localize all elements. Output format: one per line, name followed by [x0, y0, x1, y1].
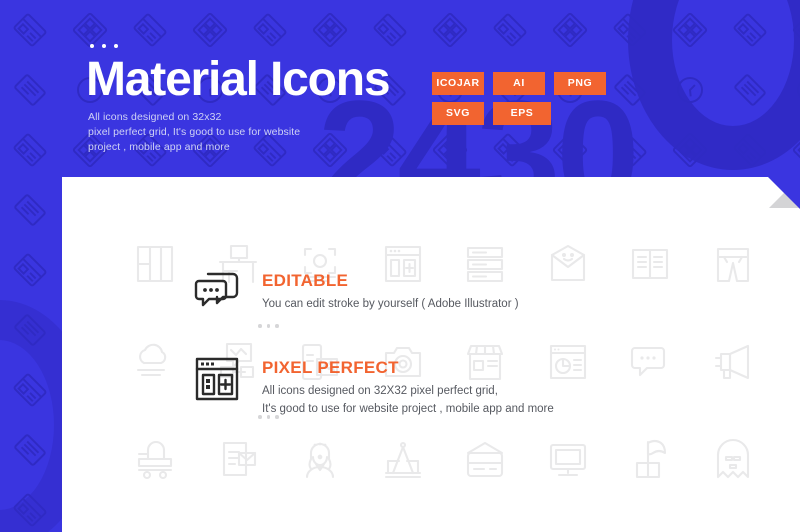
feature-editable-description: You can edit stroke by yourself ( Adobe … — [262, 296, 519, 314]
feature-pixel-perfect-text: PIXEL PERFECT All icons designed on 32X3… — [262, 352, 554, 419]
shorts-icon — [710, 241, 756, 287]
layout-columns-icon — [132, 241, 178, 287]
badge-eps[interactable]: EPS — [493, 102, 551, 125]
feature-pixel-perfect-title: PIXEL PERFECT — [262, 358, 554, 378]
format-badge-list: ICOJAR AI PNG SVG EPS — [432, 72, 612, 125]
cloud-wind-icon — [132, 339, 178, 385]
poster-canvas: 2430 Material Icons All icons designed o… — [0, 0, 800, 532]
badge-ai[interactable]: AI — [493, 72, 545, 95]
feature-editable-title: EDITABLE — [262, 271, 519, 291]
trolley-cart-icon — [132, 437, 178, 483]
open-book-icon — [627, 241, 673, 287]
monitor-icon — [545, 437, 591, 483]
document-mail-icon — [215, 437, 261, 483]
card-fold-corner — [768, 177, 800, 209]
badge-png[interactable]: PNG — [554, 72, 606, 95]
megaphone-icon — [710, 339, 756, 385]
page-subtitle: All icons designed on 32x32 pixel perfec… — [88, 110, 300, 156]
feature-pixel-perfect: PIXEL PERFECT All icons designed on 32X3… — [190, 352, 554, 419]
email-smile-icon — [545, 241, 591, 287]
easel-icon — [380, 437, 426, 483]
badge-svg[interactable]: SVG — [432, 102, 484, 125]
credit-card-icon — [462, 437, 508, 483]
decorative-arc-right — [628, 0, 800, 170]
flag-icon — [627, 437, 673, 483]
three-dots-icon-pixel — [258, 415, 279, 419]
chat-dots-icon — [627, 339, 673, 385]
badge-icojar[interactable]: ICOJAR — [432, 72, 484, 95]
three-dots-icon — [90, 44, 118, 48]
browser-window-add-icon — [190, 352, 244, 406]
ghost-icon — [710, 437, 756, 483]
page-title: Material Icons — [86, 54, 389, 107]
feature-editable-text: EDITABLE You can edit stroke by yourself… — [262, 265, 519, 314]
three-dots-icon-editable — [258, 324, 279, 328]
feature-editable: EDITABLE You can edit stroke by yourself… — [190, 265, 519, 319]
woman-avatar-icon — [297, 437, 343, 483]
feature-pixel-perfect-description: All icons designed on 32X32 pixel perfec… — [262, 383, 554, 419]
chat-bubbles-icon — [190, 265, 244, 319]
